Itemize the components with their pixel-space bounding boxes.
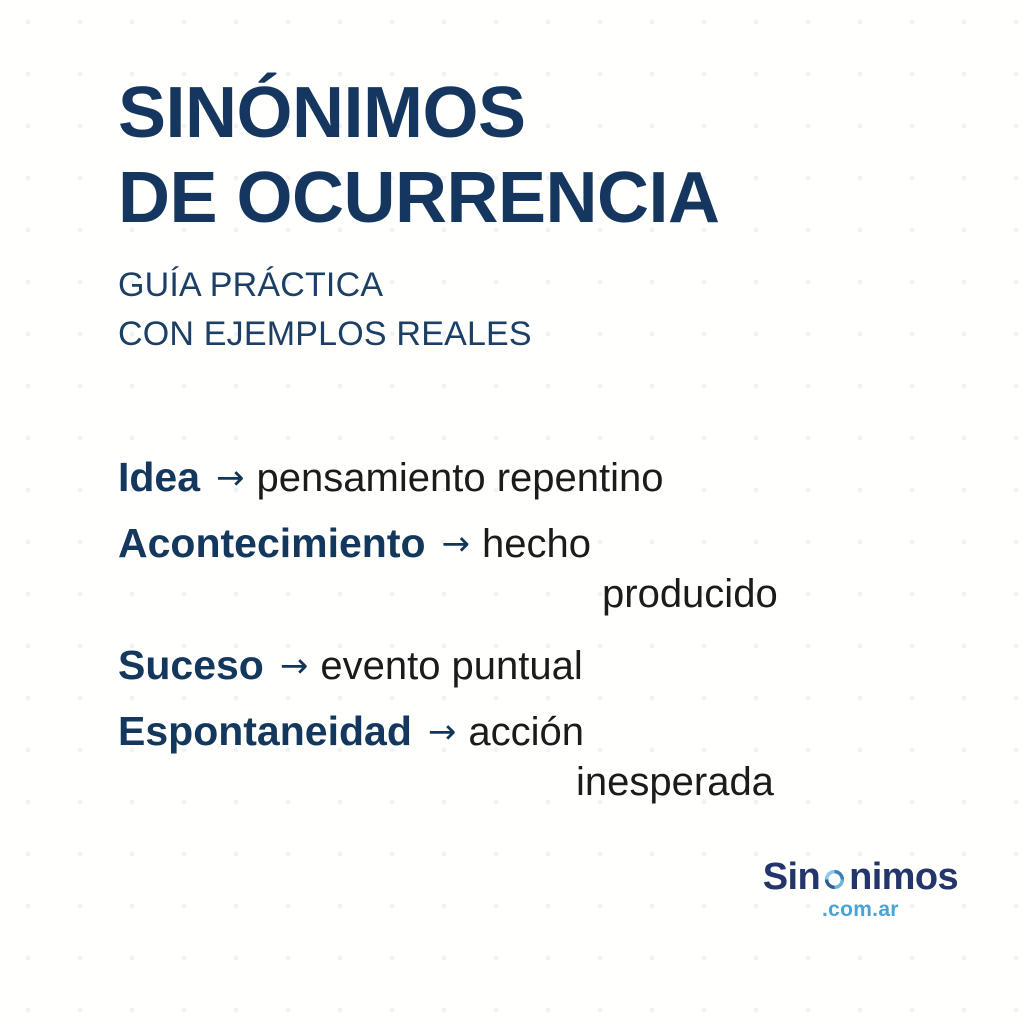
logo-text-before-o: Sin bbox=[763, 858, 820, 896]
entry-head: Idea → pensamiento repentino bbox=[118, 452, 948, 502]
title-line-1: SINÓNIMOS bbox=[118, 78, 938, 149]
site-logo[interactable]: Sin nimos .com.ar bbox=[763, 858, 958, 920]
arrow-right-icon: → bbox=[216, 461, 245, 495]
entry-definition: hecho bbox=[482, 520, 591, 568]
arrow-right-icon: → bbox=[442, 527, 471, 561]
entry-term: Acontecimiento bbox=[118, 518, 426, 568]
entry-term: Idea bbox=[118, 452, 200, 502]
entry-definition-continued: producido bbox=[602, 570, 948, 618]
entry-term: Espontaneidad bbox=[118, 706, 412, 756]
circular-arrows-icon bbox=[821, 866, 848, 893]
entry-term: Suceso bbox=[118, 640, 264, 690]
poster-page: SINÓNIMOS DE OCURRENCIA GUÍA PRÁCTICA CO… bbox=[0, 0, 1024, 1024]
arrow-right-icon: → bbox=[428, 715, 457, 749]
subtitle-line-1: GUÍA PRÁCTICA bbox=[118, 261, 938, 310]
entry-head: Suceso → evento puntual bbox=[118, 640, 948, 690]
synonym-list: Idea → pensamiento repentino Acontecimie… bbox=[118, 452, 948, 806]
entry-head: Espontaneidad → acción bbox=[118, 706, 948, 756]
entry-definition: pensamiento repentino bbox=[257, 454, 664, 502]
logo-text-after-o: nimos bbox=[849, 858, 958, 896]
subtitle-line-2: CON EJEMPLOS REALES bbox=[118, 310, 938, 359]
arrow-right-icon: → bbox=[280, 649, 309, 683]
page-title: SINÓNIMOS DE OCURRENCIA bbox=[118, 78, 938, 233]
entry-head: Acontecimiento → hecho bbox=[118, 518, 948, 568]
page-subtitle: GUÍA PRÁCTICA CON EJEMPLOS REALES bbox=[118, 261, 938, 359]
list-item: Espontaneidad → acción inesperada bbox=[118, 706, 948, 806]
list-item: Acontecimiento → hecho producido bbox=[118, 518, 948, 618]
entry-definition: acción bbox=[468, 708, 584, 756]
list-item: Suceso → evento puntual bbox=[118, 640, 948, 690]
entry-definition: evento puntual bbox=[320, 642, 582, 690]
title-line-2: DE OCURRENCIA bbox=[118, 163, 938, 234]
entry-definition-continued: inesperada bbox=[576, 758, 948, 806]
header: SINÓNIMOS DE OCURRENCIA GUÍA PRÁCTICA CO… bbox=[118, 78, 938, 359]
list-item: Idea → pensamiento repentino bbox=[118, 452, 948, 502]
logo-wordmark: Sin nimos bbox=[763, 858, 958, 896]
logo-tld: .com.ar bbox=[763, 899, 958, 920]
